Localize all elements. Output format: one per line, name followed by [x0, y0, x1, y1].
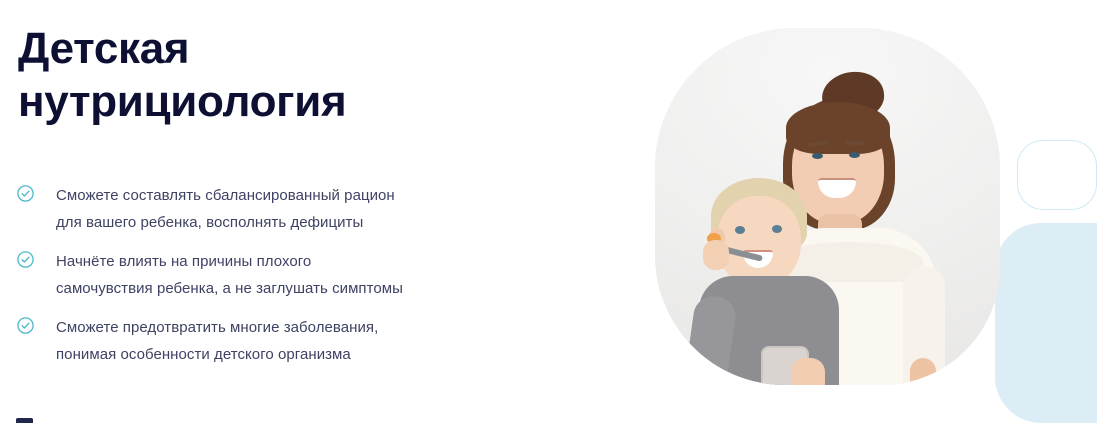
mother-eye-left — [812, 153, 823, 159]
benefit-text: Сможете предотвратить многие заболевания… — [56, 314, 620, 368]
page-title: Детская нутрициология — [18, 22, 618, 128]
mother-forearm-right — [910, 358, 936, 385]
hero-photo — [655, 28, 1000, 385]
benefits-list: Сможете составлять сбалансированный раци… — [0, 182, 620, 369]
decoration-rounded-square-solid — [995, 223, 1097, 423]
child-hand-left — [703, 240, 729, 270]
mother-eye-right — [849, 152, 860, 158]
child-eye-left — [735, 226, 745, 234]
clipped-control-sliver[interactable] — [16, 418, 33, 423]
benefit-text: Начнёте влиять на причины плохого самочу… — [56, 248, 620, 302]
child-hand-right — [791, 358, 825, 385]
hero-section: Детская нутрициология Сможете составлять… — [0, 0, 1097, 423]
list-item: Начнёте влиять на причины плохого самочу… — [0, 248, 620, 303]
benefit-text: Сможете составлять сбалансированный раци… — [56, 182, 620, 236]
list-item: Сможете предотвратить многие заболевания… — [0, 314, 620, 369]
list-item: Сможете составлять сбалансированный раци… — [0, 182, 620, 237]
hero-content-column: Детская нутрициология Сможете составлять… — [0, 0, 640, 423]
check-circle-icon — [17, 251, 34, 268]
check-circle-icon — [17, 317, 34, 334]
page-title-line-2: нутрициология — [18, 75, 618, 128]
check-circle-icon — [17, 185, 34, 202]
child-eye-right — [772, 225, 782, 233]
page-title-line-1: Детская — [18, 22, 618, 75]
mother-hair-front — [786, 102, 890, 154]
photo-backdrop — [655, 28, 1000, 385]
decoration-rounded-square-outline — [1017, 140, 1097, 210]
hero-media-column — [640, 0, 1097, 423]
child-face — [717, 196, 801, 288]
